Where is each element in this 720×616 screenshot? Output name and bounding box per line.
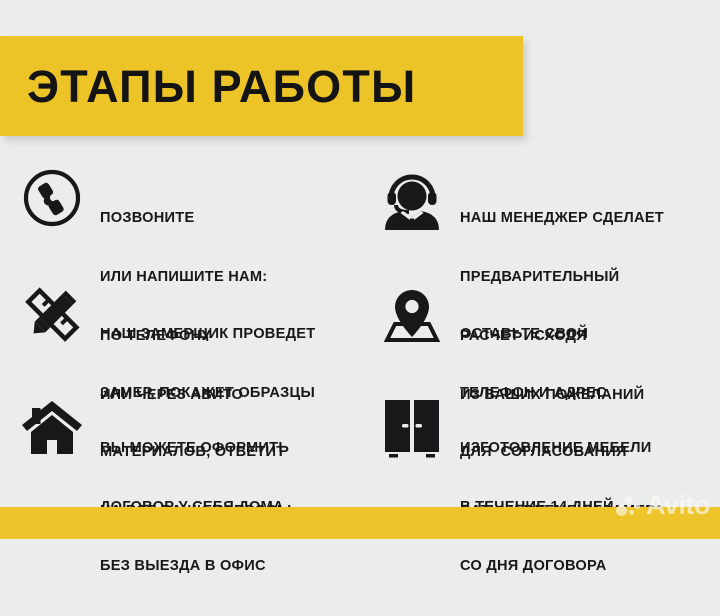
- house-icon: [16, 396, 88, 474]
- step-line: БЕЗ ВЫЕЗДА В ОФИС: [100, 557, 289, 577]
- phone-in-circle-icon: [16, 166, 88, 244]
- step-line: ОСТАВЬТЕ СВОЙ: [460, 325, 665, 345]
- step-line: ИЗГОТОВЛЕНИЕ МЕБЕЛИ: [460, 439, 652, 459]
- step-line: НАШ МЕНЕДЖЕР СДЕЛАЕТ: [460, 209, 664, 229]
- map-pin-icon: [376, 282, 448, 360]
- step-line: ВЫ МОЖЕТЕ ОФОРМИТЬ: [100, 439, 289, 459]
- step-line: СО ДНЯ ДОГОВОРА: [460, 557, 652, 577]
- step-item-contract-at-home: ВЫ МОЖЕТЕ ОФОРМИТЬ ДОГОВОР У СЕБЯ ДОМА Б…: [16, 396, 371, 616]
- ruler-pencil-icon: [16, 282, 88, 360]
- step-line: НАШ ЗАМЕРЩИК ПРОВЕДЕТ: [100, 325, 315, 345]
- step-text: ВЫ МОЖЕТЕ ОФОРМИТЬ ДОГОВОР У СЕБЯ ДОМА Б…: [88, 396, 289, 616]
- title-banner: ЭТАПЫ РАБОТЫ: [0, 36, 523, 136]
- steps-grid: ПОЗВОНИТЕ ИЛИ НАПИШИТЕ НАМ: ПО ТЕЛЕФОНУ …: [0, 160, 720, 500]
- avito-dots-icon: [616, 494, 642, 518]
- avito-wordmark: Avito: [646, 492, 710, 519]
- bottom-accent-bar: [0, 507, 720, 539]
- avito-watermark: Avito: [616, 492, 710, 519]
- headset-operator-icon: [376, 166, 448, 244]
- step-line: ПОЗВОНИТЕ: [100, 209, 267, 229]
- page-title: ЭТАПЫ РАБОТЫ: [27, 64, 416, 109]
- poster-canvas: ЭТАПЫ РАБОТЫ ПОЗВОНИТЕ ИЛИ НАПИШИТЕ НАМ:…: [0, 0, 720, 539]
- wardrobe-icon: [376, 396, 448, 474]
